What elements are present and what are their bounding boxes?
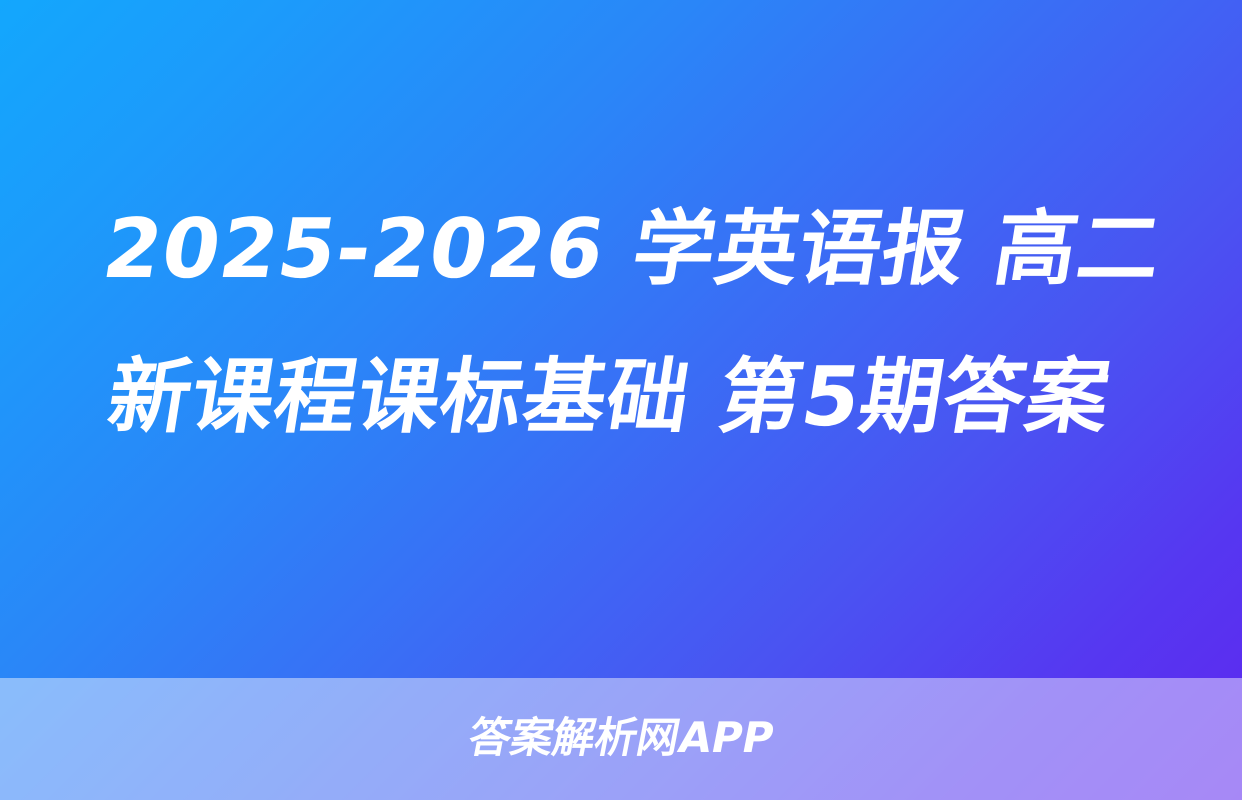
- headline-container: 2025-2026 学英语报 高二 新课程课标基础 第5期答案: [0, 176, 1242, 646]
- poster-title: 2025-2026 学英语报 高二 新课程课标基础 第5期答案: [33, 176, 1210, 472]
- poster-canvas: 2025-2026 学英语报 高二 新课程课标基础 第5期答案 答案解析网APP: [0, 0, 1242, 800]
- app-watermark-label: 答案解析网APP: [465, 717, 778, 761]
- watermark-band: 答案解析网APP: [0, 678, 1242, 800]
